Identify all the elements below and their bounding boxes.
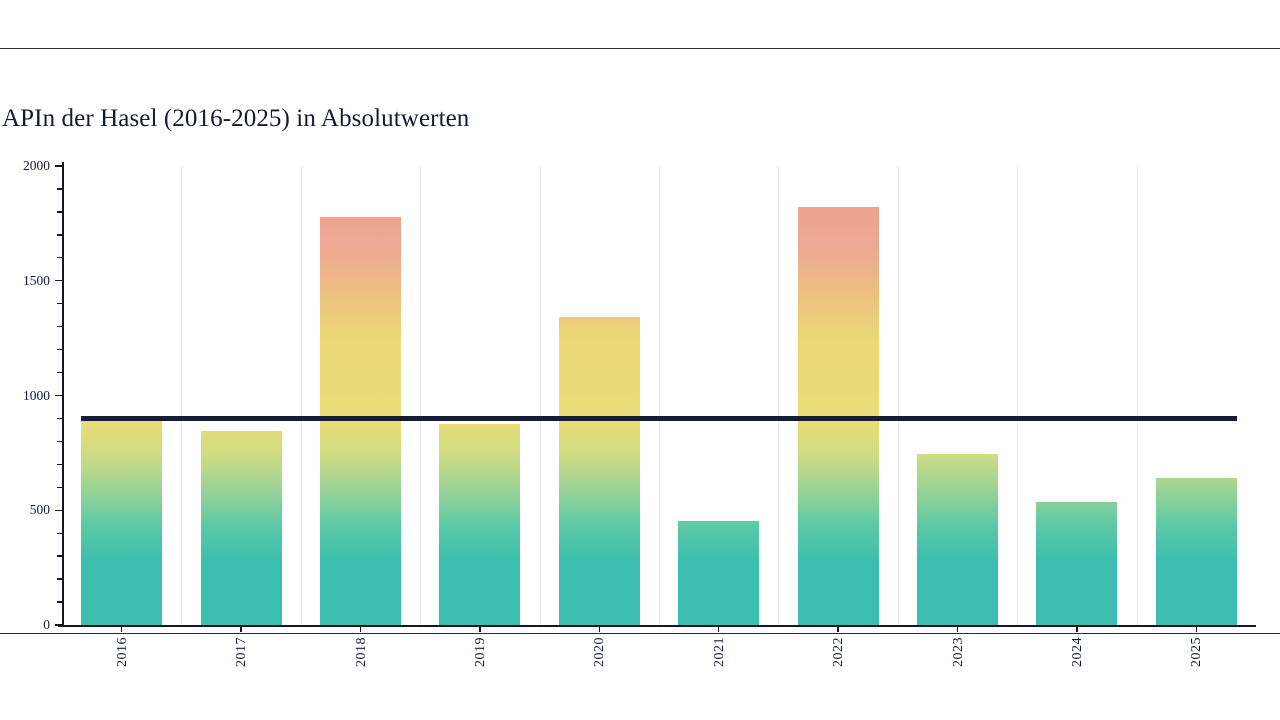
x-axis-tick-label: 2016 (115, 637, 131, 667)
x-axis-tick (1196, 625, 1197, 632)
x-axis-tick-label: 2024 (1070, 637, 1086, 667)
x-axis-tick (1076, 625, 1077, 632)
x-axis-tick-label: 2022 (831, 637, 847, 667)
bar-gradient-fill (1036, 502, 1117, 625)
gridline-vertical (301, 166, 302, 625)
y-axis-tick-label: 500 (0, 502, 50, 518)
bar-gradient-fill (439, 424, 520, 625)
bar-gradient-fill (1156, 478, 1237, 625)
x-axis-tick-label: 2023 (951, 637, 967, 667)
bar[interactable]: 2019 876 (439, 424, 520, 625)
bar[interactable]: 2021 455 (678, 521, 759, 625)
y-axis-tick-label: 1500 (0, 273, 50, 289)
y-axis-tick-label: 1000 (0, 388, 50, 404)
y-axis-tick-label: 0 (0, 617, 50, 633)
bar[interactable]: 2020 1340 (559, 317, 640, 625)
bar[interactable]: 2016 897 (81, 419, 162, 625)
bar[interactable]: 2024 535 (1036, 502, 1117, 625)
bar-gradient-fill (917, 454, 998, 625)
bar-gradient-fill (678, 521, 759, 625)
x-axis-tick (718, 625, 719, 632)
bar[interactable]: 2025 640 (1156, 478, 1237, 625)
gridline-vertical (1137, 166, 1138, 625)
x-axis-tick (837, 625, 838, 632)
x-axis-tick-label: 2018 (354, 637, 370, 667)
gridline-vertical (540, 166, 541, 625)
x-axis-tick (599, 625, 600, 632)
x-axis-tick (240, 625, 241, 632)
bar-gradient-fill (559, 317, 640, 625)
x-axis-tick-label: 2019 (473, 637, 489, 667)
x-axis-tick (360, 625, 361, 632)
x-axis-tick-label: 2020 (592, 637, 608, 667)
bar[interactable]: 2017 845 (201, 431, 282, 625)
x-axis-tick-label: 2025 (1189, 637, 1205, 667)
x-axis-tick (479, 625, 480, 632)
y-axis-tick-major (55, 165, 62, 166)
gridline-vertical (1017, 166, 1018, 625)
mean-reference-line (81, 416, 1237, 421)
gridline-vertical (181, 166, 182, 625)
x-axis-tick-label: 2021 (712, 637, 728, 667)
y-axis-tick-label: 2000 (0, 158, 50, 174)
y-axis-tick-major (55, 280, 62, 281)
x-axis-tick (121, 625, 122, 632)
y-axis-tick-major (55, 395, 62, 396)
gridline-vertical (420, 166, 421, 625)
bar-gradient-fill (201, 431, 282, 625)
gridline-vertical (898, 166, 899, 625)
x-axis-tick (957, 625, 958, 632)
page-title: APIn der Hasel (2016-2025) in Absolutwer… (2, 104, 469, 134)
chart-screenshot: APIn der Hasel (2016-2025) in Absolutwer… (0, 0, 1280, 720)
bar[interactable]: 2023 745 (917, 454, 998, 625)
bar-gradient-fill (81, 419, 162, 625)
figure-frame: APIn der Hasel (2016-2025) in Absolutwer… (0, 48, 1280, 634)
gridline-vertical (778, 166, 779, 625)
plot-area: 2016 8972017 8452018 17802019 8762020 13… (62, 166, 1256, 625)
y-axis-tick-major (55, 510, 62, 511)
gridline-vertical (659, 166, 660, 625)
x-axis-tick-label: 2017 (234, 637, 250, 667)
